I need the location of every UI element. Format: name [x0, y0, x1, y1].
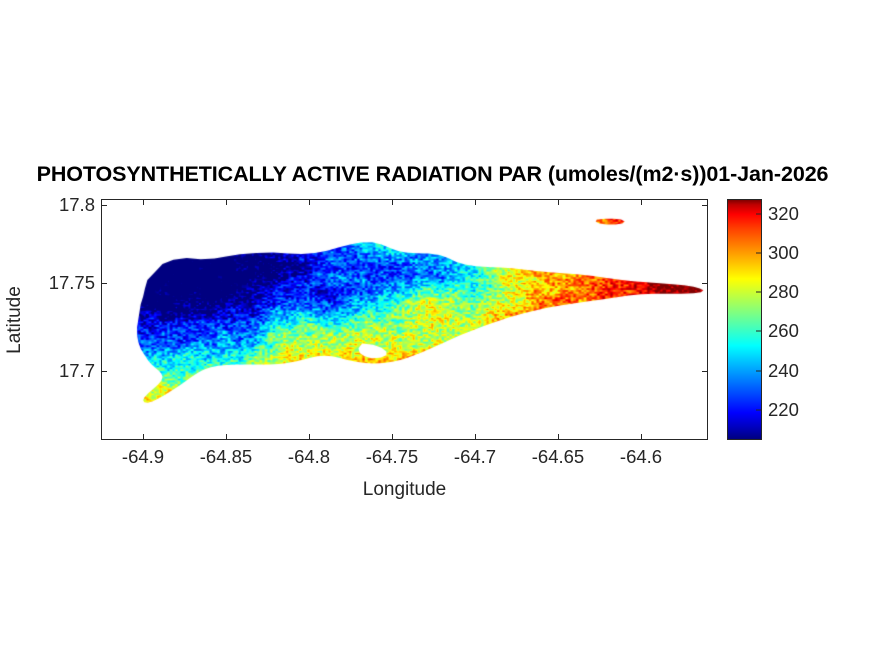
x-tick — [143, 199, 144, 205]
colorbar-tick — [756, 292, 762, 293]
x-tick — [475, 434, 476, 440]
colorbar-tick — [756, 371, 762, 372]
y-tick — [702, 205, 708, 206]
colorbar-tick-label: 300 — [768, 242, 799, 264]
x-tick — [392, 199, 393, 205]
y-tick-label: 17.8 — [59, 194, 95, 216]
colorbar-tick-label: 240 — [768, 360, 799, 382]
x-tick-label: -64.8 — [288, 446, 330, 468]
colorbar-tick-label: 260 — [768, 320, 799, 342]
colorbar-tick — [756, 331, 762, 332]
x-tick — [558, 434, 559, 440]
y-tick — [702, 371, 708, 372]
colorbar-tick-label: 280 — [768, 281, 799, 303]
figure-title: PHOTOSYNTHETICALLY ACTIVE RADIATION PAR … — [0, 162, 875, 187]
x-tick — [143, 434, 144, 440]
x-tick — [558, 199, 559, 205]
x-tick — [226, 434, 227, 440]
colorbar-tick — [756, 214, 762, 215]
x-tick — [392, 434, 393, 440]
x-tick — [641, 434, 642, 440]
y-tick — [101, 371, 107, 372]
y-tick-label: 17.75 — [49, 272, 95, 294]
x-tick — [641, 199, 642, 205]
x-tick-label: -64.75 — [366, 446, 418, 468]
map-axes[interactable] — [101, 199, 708, 440]
y-axis-label: Latitude — [4, 286, 26, 354]
x-tick — [226, 199, 227, 205]
y-tick — [101, 283, 107, 284]
x-tick-label: -64.6 — [620, 446, 662, 468]
x-tick — [475, 199, 476, 205]
y-tick — [101, 205, 107, 206]
y-tick — [702, 283, 708, 284]
par-heatmap-canvas — [102, 200, 707, 439]
colorbar-tick — [756, 253, 762, 254]
y-tick-label: 17.7 — [59, 360, 95, 382]
x-tick-label: -64.85 — [200, 446, 252, 468]
colorbar-tick-label: 320 — [768, 203, 799, 225]
x-tick — [309, 199, 310, 205]
x-tick-label: -64.7 — [454, 446, 496, 468]
matlab-figure: PHOTOSYNTHETICALLY ACTIVE RADIATION PAR … — [0, 0, 875, 656]
x-tick — [309, 434, 310, 440]
x-tick-label: -64.9 — [122, 446, 164, 468]
x-tick-label: -64.65 — [532, 446, 584, 468]
x-axis-label: Longitude — [101, 479, 708, 501]
colorbar[interactable] — [727, 199, 762, 440]
colorbar-tick — [756, 410, 762, 411]
colorbar-tick-label: 220 — [768, 399, 799, 421]
